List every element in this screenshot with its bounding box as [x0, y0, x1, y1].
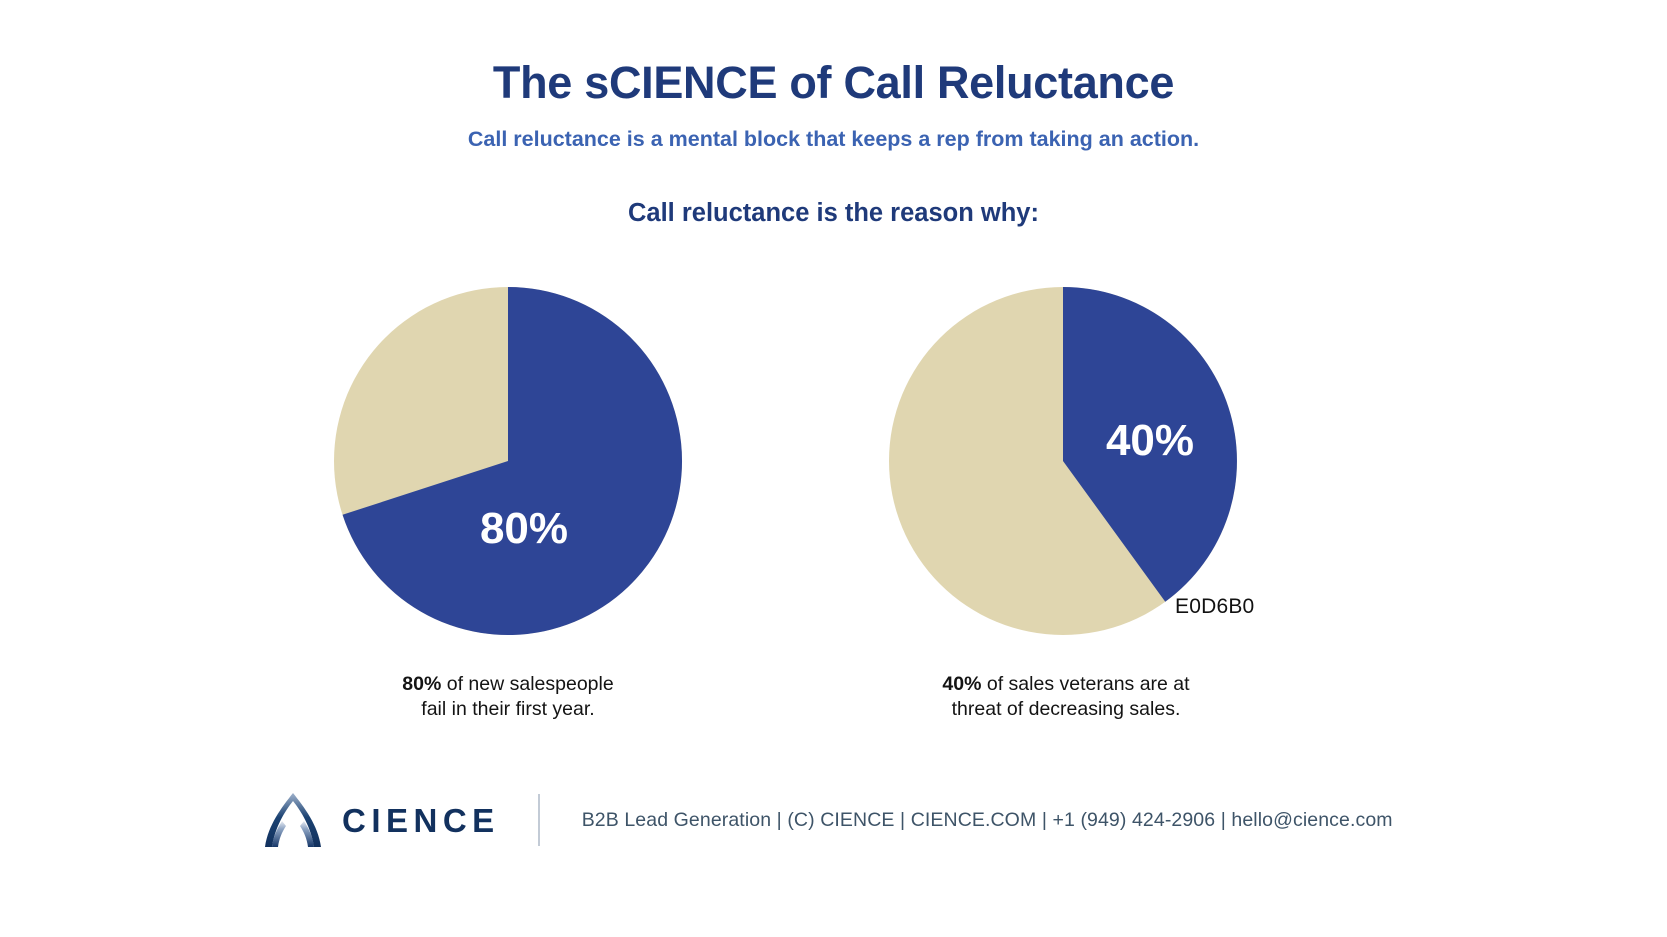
captions-row: 80% of new salespeople fail in their fir… [0, 672, 1667, 742]
caption-right-line1: 40% of sales veterans are at [851, 672, 1281, 697]
pie-chart-right-svg: 40% [887, 285, 1239, 637]
caption-left-percent: 80% [402, 673, 441, 695]
footer-inner: CIENCE B2B Lead Generation | (C) CIENCE … [262, 791, 1393, 849]
pie-chart-left-svg: 80% [332, 285, 684, 637]
infographic-poster: The sCIENCE of Call Reluctance Call relu… [0, 0, 1667, 937]
pie-label-right: 40% [1106, 416, 1194, 465]
footer: CIENCE B2B Lead Generation | (C) CIENCE … [0, 780, 1667, 860]
caption-left-line1: 80% of new salespeople [293, 672, 723, 697]
section-heading: Call reluctance is the reason why: [0, 152, 1667, 229]
pie-label-left: 80% [480, 504, 568, 553]
footer-contact-line: B2B Lead Generation | (C) CIENCE | CIENC… [582, 809, 1393, 832]
caption-left-text1: of new salespeople [441, 673, 613, 695]
header: The sCIENCE of Call Reluctance Call relu… [0, 0, 1667, 229]
charts-row: 80% 40% [0, 285, 1667, 645]
pie-chart-sales-veterans: 40% [887, 285, 1239, 637]
cience-wordmark: CIENCE [342, 804, 500, 837]
page-subtitle: Call reluctance is a mental block that k… [0, 108, 1667, 153]
page-title: The sCIENCE of Call Reluctance [0, 0, 1667, 108]
cience-arch-logo-icon [262, 791, 324, 849]
caption-right-text1: of sales veterans are at [981, 673, 1189, 695]
footer-divider [538, 794, 540, 846]
pie-chart-new-salespeople: 80% [332, 285, 684, 637]
caption-left-line2: fail in their first year. [293, 697, 723, 722]
caption-new-salespeople: 80% of new salespeople fail in their fir… [293, 672, 723, 723]
caption-right-line2: threat of decreasing sales. [851, 697, 1281, 722]
caption-sales-veterans: 40% of sales veterans are at threat of d… [851, 672, 1281, 723]
hex-color-annotation: E0D6B0 [1175, 595, 1254, 619]
caption-right-percent: 40% [942, 673, 981, 695]
